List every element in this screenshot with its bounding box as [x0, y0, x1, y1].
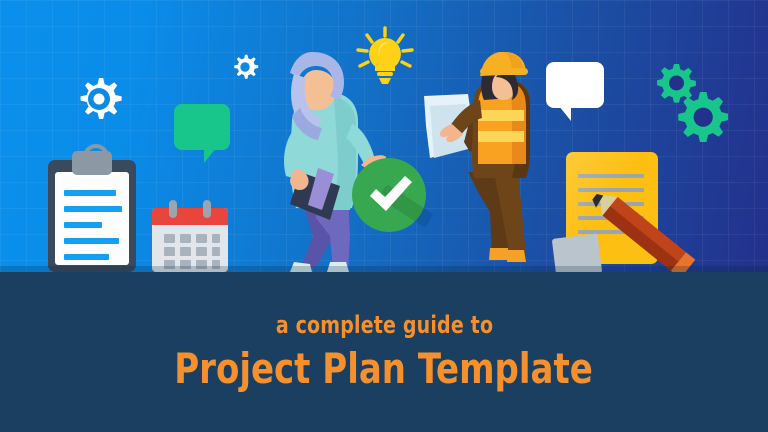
calendar-cell	[180, 234, 191, 243]
calendar-cell	[196, 234, 207, 243]
gear-icon-large-white	[70, 70, 128, 133]
checkmark-glyph	[352, 158, 426, 232]
clipboard-line	[64, 190, 116, 196]
project-plan-banner: a complete guide to Project Plan Templat…	[0, 0, 768, 432]
calendar-cell	[164, 247, 175, 256]
calendar-icon	[152, 200, 228, 272]
illustration-scene	[0, 0, 768, 272]
checkmark-circle-icon	[352, 158, 426, 232]
gears-icon-green	[646, 58, 736, 151]
clipboard-line	[64, 206, 122, 212]
calendar-ring	[169, 200, 177, 218]
banner-subtitle: a complete guide to	[275, 313, 492, 337]
calendar-cell	[212, 234, 220, 243]
speech-bubble-green	[174, 104, 230, 150]
clipboard-line	[64, 238, 119, 244]
calendar-cell	[196, 247, 207, 256]
clipboard-ring	[83, 144, 109, 170]
speech-bubble-green-tail	[204, 148, 221, 163]
calendar-cell	[180, 247, 191, 256]
calendar-ring	[203, 200, 211, 218]
clipboard-icon	[48, 160, 136, 272]
banner-title: Project Plan Template	[175, 347, 594, 391]
title-band: a complete guide to Project Plan Templat…	[0, 272, 768, 432]
speech-bubble-green-body	[174, 104, 230, 150]
calendar-header	[152, 208, 228, 225]
calendar-cell	[212, 247, 220, 256]
clipboard-line	[64, 222, 102, 228]
pencil-icon	[586, 188, 716, 272]
clipboard-line	[64, 254, 109, 260]
calendar-cell	[164, 234, 175, 243]
clipboard-page	[55, 172, 129, 265]
construction-worker	[424, 52, 564, 272]
